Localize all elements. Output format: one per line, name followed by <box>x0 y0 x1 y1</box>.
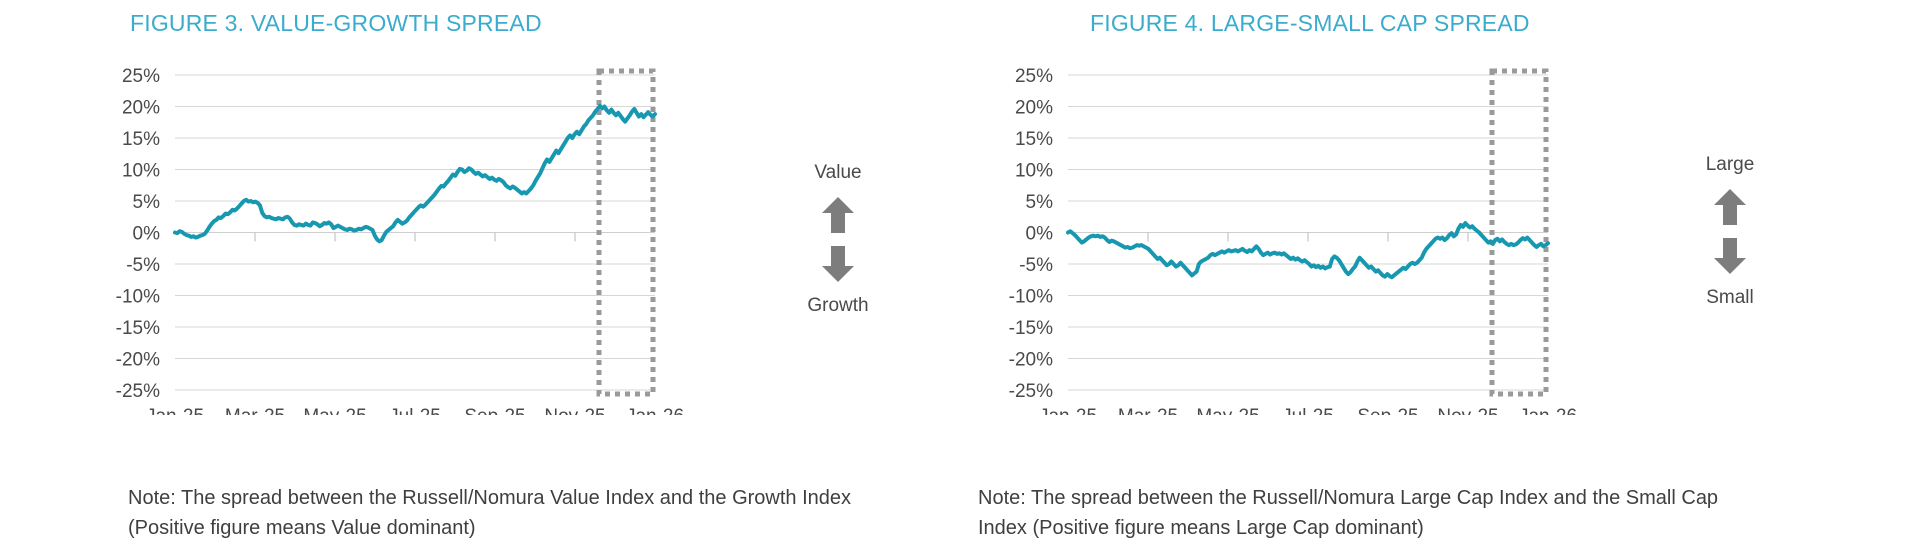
y-axis-tick-label: -10% <box>1009 287 1053 308</box>
x-axis-tick-label: Jul-25 <box>389 406 441 415</box>
y-axis-tick-label: 15% <box>1015 129 1053 150</box>
figure-4-large-small-cap-spread: FIGURE 4. LARGE-SMALL CAP SPREAD 25%20%1… <box>960 0 1920 553</box>
figure-4-note: Note: The spread between the Russell/Nom… <box>978 483 1758 543</box>
x-axis-tick-label: Jul-25 <box>1282 406 1334 415</box>
y-axis-tick-label: 5% <box>1026 192 1054 213</box>
y-axis-tick-label: 0% <box>1026 224 1054 245</box>
y-axis-tick-label: 10% <box>122 161 160 182</box>
y-axis-tick-label: -20% <box>1009 350 1053 371</box>
x-axis-tick-label: May-25 <box>303 406 366 415</box>
y-axis-tick-label: 25% <box>1015 66 1053 87</box>
figure-3-title: FIGURE 3. VALUE-GROWTH SPREAD <box>130 10 542 37</box>
figure-4-legend: Large Small <box>1660 152 1800 311</box>
figure-3-note: Note: The spread between the Russell/Nom… <box>128 483 858 543</box>
x-axis-tick-label: Jan-25 <box>1039 406 1097 415</box>
figure-4-title: FIGURE 4. LARGE-SMALL CAP SPREAD <box>1090 10 1530 37</box>
figure-3-legend: Value Growth <box>768 160 908 319</box>
figures-page: FIGURE 3. VALUE-GROWTH SPREAD 25%20%15%1… <box>0 0 1920 553</box>
legend-top-label: Large <box>1660 152 1800 178</box>
x-axis-tick-label: May-25 <box>1196 406 1259 415</box>
legend-top-label: Value <box>768 160 908 186</box>
y-axis-tick-label: 20% <box>122 98 160 119</box>
figure-3-value-growth-spread: FIGURE 3. VALUE-GROWTH SPREAD 25%20%15%1… <box>0 0 960 553</box>
arrow-down-icon <box>820 244 856 284</box>
arrow-down-icon <box>1712 236 1748 276</box>
y-axis-tick-label: -5% <box>1019 255 1053 276</box>
y-axis-tick-label: -15% <box>1009 318 1053 339</box>
y-axis-tick-label: -15% <box>116 318 160 339</box>
data-series-line <box>1068 223 1548 277</box>
x-axis-tick-label: Jan-26 <box>1519 406 1577 415</box>
arrow-up-icon <box>820 195 856 235</box>
y-axis-tick-label: 25% <box>122 66 160 87</box>
y-axis-tick-label: -25% <box>116 381 160 402</box>
legend-bottom-label: Growth <box>768 293 908 319</box>
x-axis-tick-label: Nov-25 <box>1437 406 1498 415</box>
x-axis-tick-label: Mar-25 <box>225 406 285 415</box>
x-axis-tick-label: Mar-25 <box>1118 406 1178 415</box>
arrow-up-icon <box>1712 187 1748 227</box>
legend-bottom-label: Small <box>1660 285 1800 311</box>
y-axis-tick-label: 20% <box>1015 98 1053 119</box>
y-axis-tick-label: 5% <box>133 192 161 213</box>
y-axis-tick-label: -25% <box>1009 381 1053 402</box>
x-axis-tick-label: Jan-25 <box>146 406 204 415</box>
x-axis-tick-label: Nov-25 <box>544 406 605 415</box>
x-axis-tick-label: Jan-26 <box>626 406 684 415</box>
y-axis-tick-label: 15% <box>122 129 160 150</box>
y-axis-tick-label: -5% <box>126 255 160 276</box>
x-axis-tick-label: Sep-25 <box>1357 406 1418 415</box>
y-axis-tick-label: 10% <box>1015 161 1053 182</box>
x-axis-tick-label: Sep-25 <box>464 406 525 415</box>
y-axis-tick-label: 0% <box>133 224 161 245</box>
data-series-line <box>175 106 655 241</box>
y-axis-tick-label: -20% <box>116 350 160 371</box>
y-axis-tick-label: -10% <box>116 287 160 308</box>
